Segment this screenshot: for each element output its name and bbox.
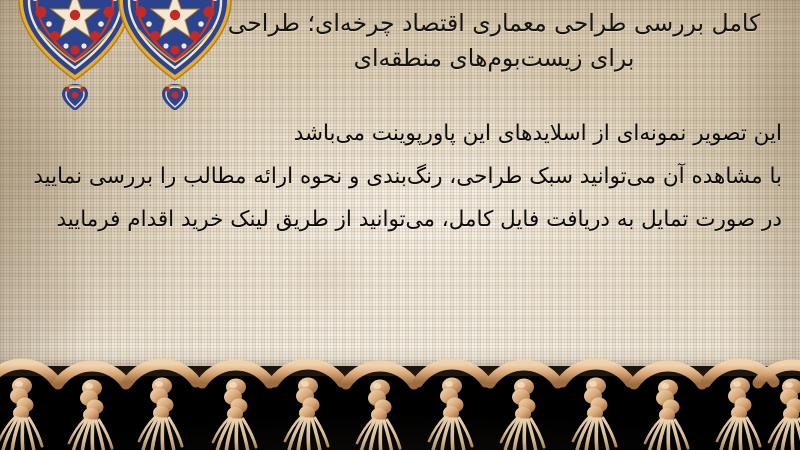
black-base-area xyxy=(0,366,800,450)
title-line-1: کامل بررسی طراحی معماری اقتصاد چرخه‌ای؛ … xyxy=(202,6,786,41)
slide-title: کامل بررسی طراحی معماری اقتصاد چرخه‌ای؛ … xyxy=(202,6,786,76)
body-line-2: با مشاهده آن می‌توانید سبک طراحی، رنگ‌بن… xyxy=(18,155,782,198)
presentation-slide: کامل بررسی طراحی معماری اقتصاد چرخه‌ای؛ … xyxy=(0,0,800,450)
title-line-2: برای زیست‌بوم‌های منطقه‌ای xyxy=(202,41,786,76)
body-line-1: این تصویر نمونه‌ای از اسلایدهای این پاور… xyxy=(18,112,782,155)
slide-body-text: این تصویر نمونه‌ای از اسلایدهای این پاور… xyxy=(18,112,782,241)
body-line-3: در صورت تمایل به دریافت فایل کامل، می‌تو… xyxy=(18,198,782,241)
